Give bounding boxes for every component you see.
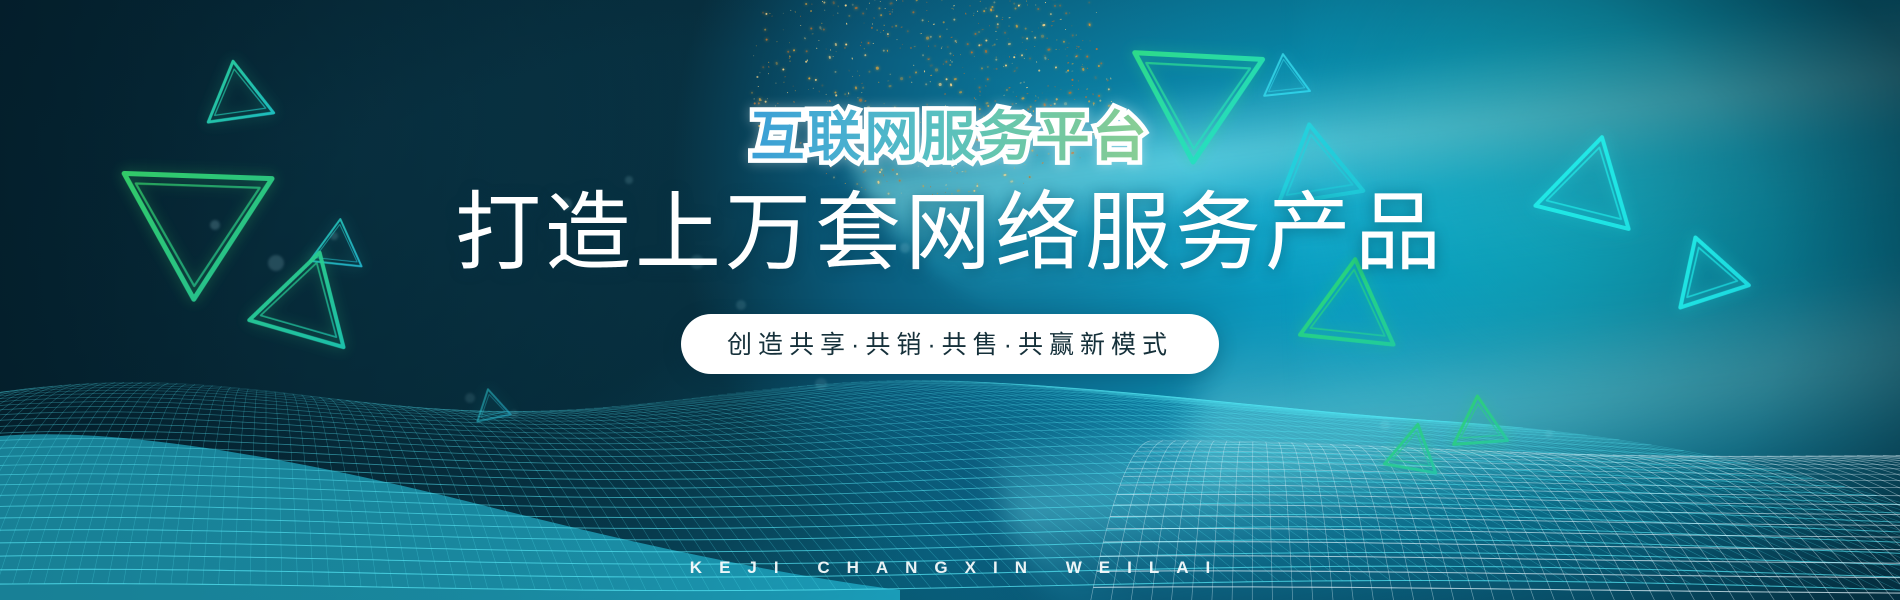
- banner-subtitle-fill: 互联网服务平台: [751, 108, 1150, 167]
- tagline-pill: 创造共享·共销·共售·共赢新模式: [681, 314, 1219, 374]
- banner-headline: 打造上万套网络服务产品: [455, 188, 1445, 278]
- pinyin-caption: KEJI CHANGXIN WEILAI: [0, 558, 1900, 578]
- banner-content: 互联网服务平台 互联网服务平台 打造上万套网络服务产品 创造共享·共销·共售·共…: [0, 0, 1900, 600]
- hero-banner: 互联网服务平台 互联网服务平台 打造上万套网络服务产品 创造共享·共销·共售·共…: [0, 0, 1900, 600]
- banner-subtitle: 互联网服务平台 互联网服务平台: [751, 108, 1150, 170]
- tagline-text: 创造共享·共销·共售·共赢新模式: [727, 325, 1173, 361]
